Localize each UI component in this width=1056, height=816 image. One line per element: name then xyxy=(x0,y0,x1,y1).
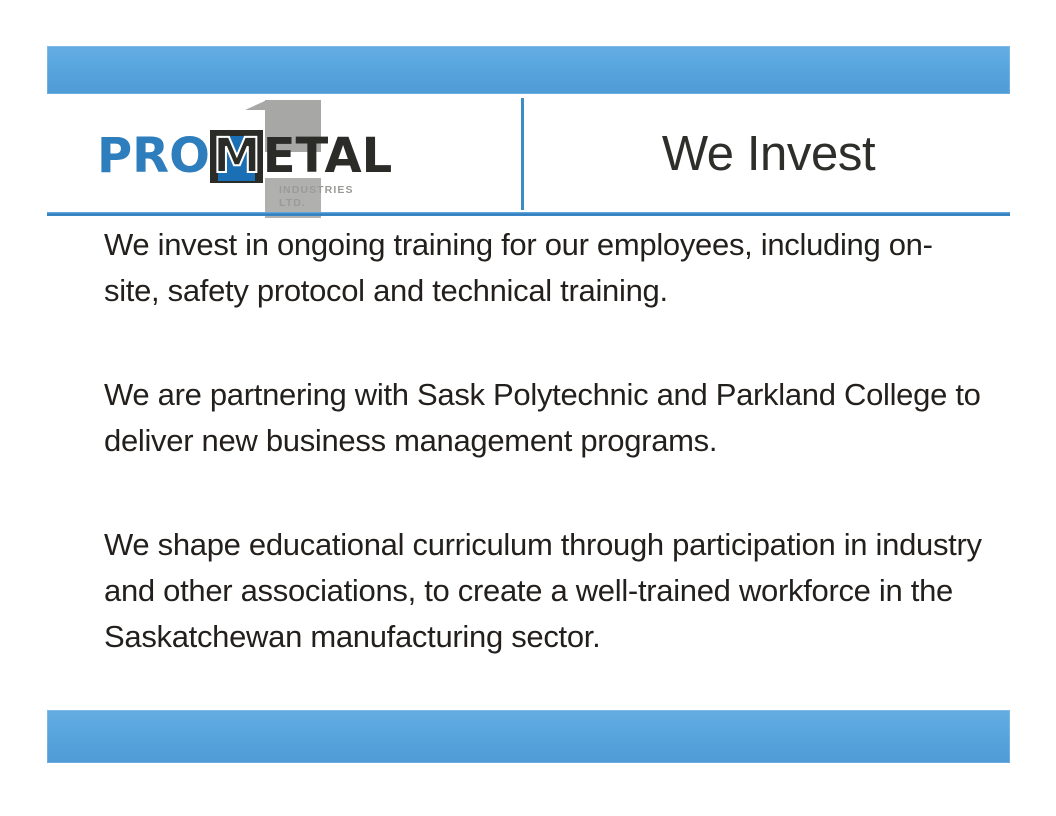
logo-wordmark: PRO M ETAL xyxy=(97,130,392,182)
body-paragraph-2: We are partnering with Sask Polytechnic … xyxy=(104,372,984,464)
slide-header: PRO M ETAL INDUSTRIES LTD. We Invest xyxy=(47,96,1010,214)
prometal-logo: PRO M ETAL INDUSTRIES LTD. xyxy=(97,98,497,214)
logo-subtitle-line-1: INDUSTRIES xyxy=(279,184,354,197)
logo-subtitle-line-2: LTD. xyxy=(279,197,354,210)
logo-subtitle: INDUSTRIES LTD. xyxy=(279,184,354,210)
top-accent-bar xyxy=(47,46,1010,94)
logo-m-badge: M xyxy=(210,130,263,183)
body-paragraph-3: We shape educational curriculum through … xyxy=(104,522,984,660)
logo-notch-shape xyxy=(245,100,267,110)
header-horizontal-rule xyxy=(47,212,1010,216)
logo-text-etal: ETAL xyxy=(263,132,393,180)
slide-canvas: PRO M ETAL INDUSTRIES LTD. We Invest We … xyxy=(0,0,1056,816)
bottom-accent-bar xyxy=(47,710,1010,763)
logo-text-m: M xyxy=(213,132,260,180)
slide-body: We invest in ongoing training for our em… xyxy=(104,222,984,660)
logo-text-pro: PRO xyxy=(97,132,210,180)
header-vertical-divider xyxy=(521,98,524,210)
body-paragraph-1: We invest in ongoing training for our em… xyxy=(104,222,984,314)
slide-title: We Invest xyxy=(527,96,1010,212)
